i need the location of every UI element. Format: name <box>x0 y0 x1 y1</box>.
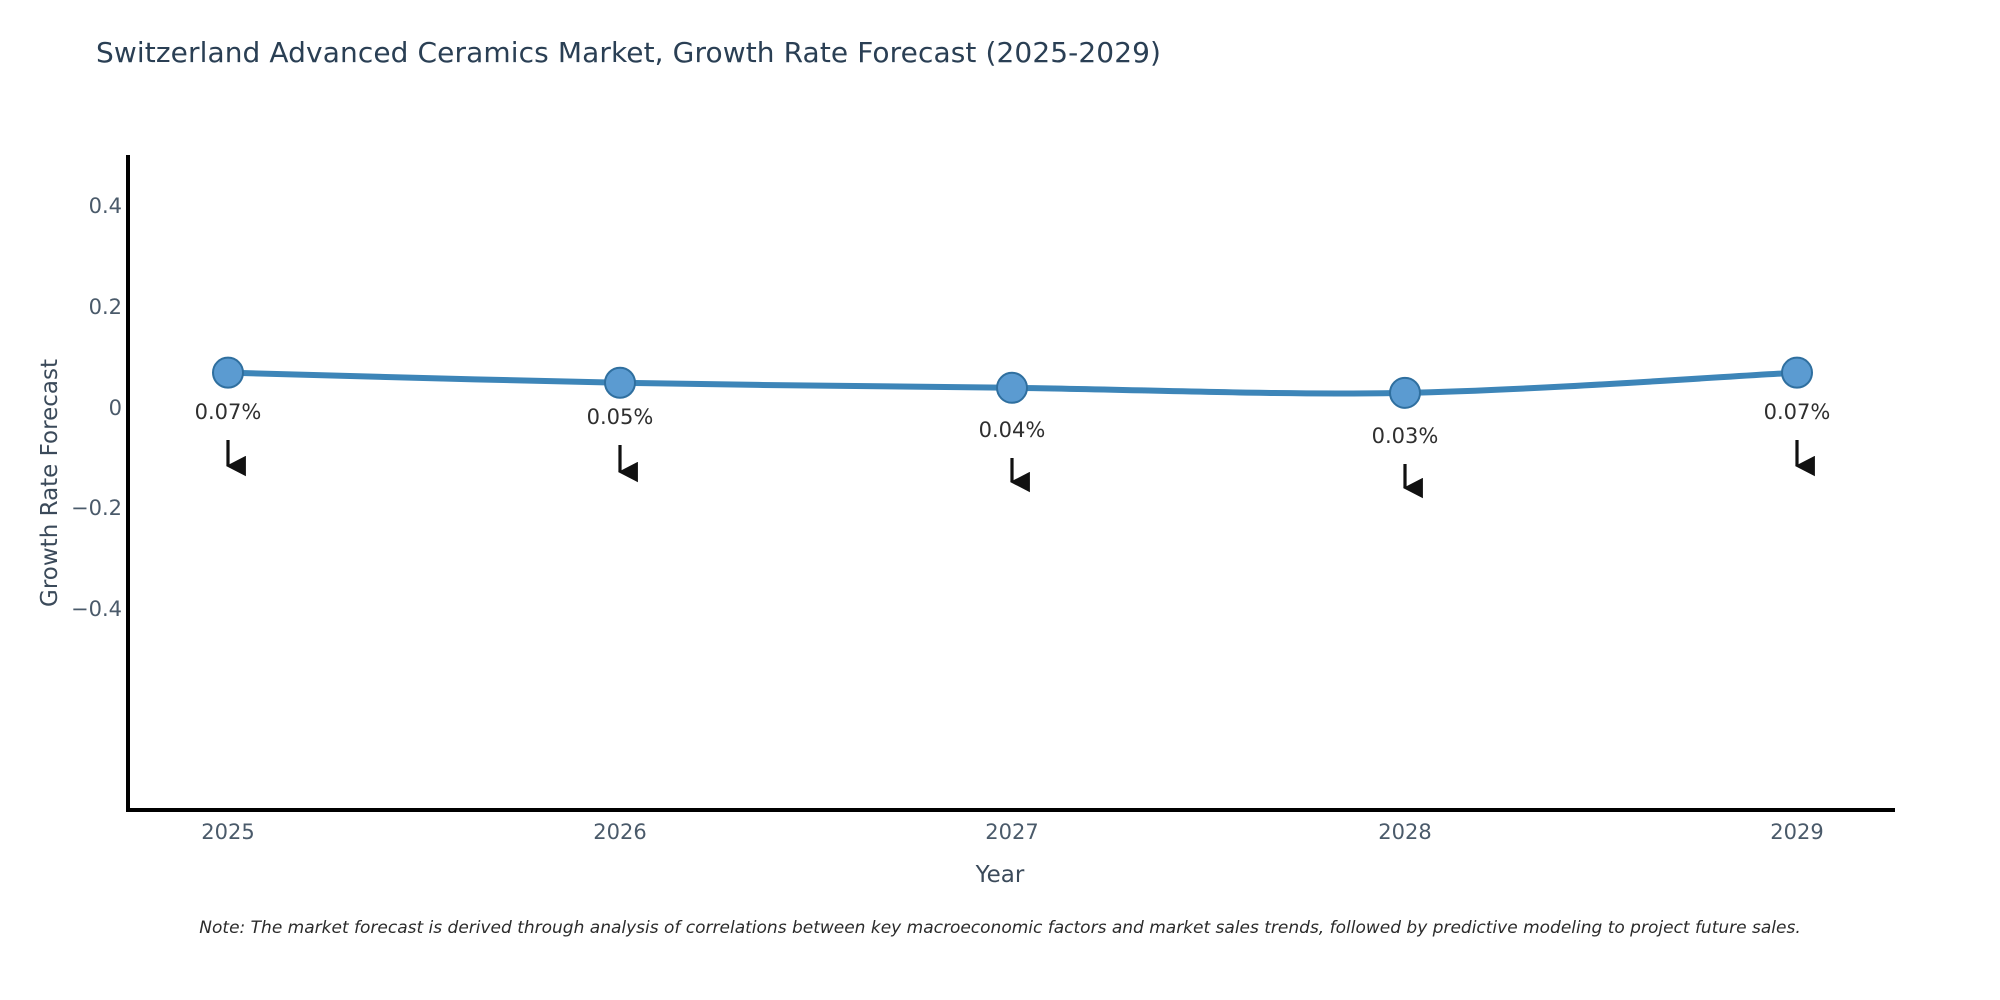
chart-figure: Switzerland Advanced Ceramics Market, Gr… <box>0 0 2000 1000</box>
data-point-2029[interactable] <box>1782 358 1812 388</box>
series-markers <box>213 358 1812 408</box>
data-point-2027[interactable] <box>997 373 1027 403</box>
data-point-2025[interactable] <box>213 358 243 388</box>
data-point-2028[interactable] <box>1390 378 1420 408</box>
data-point-2026[interactable] <box>605 368 635 398</box>
annotation-arrows <box>228 440 1797 488</box>
plot-area <box>0 0 2000 1000</box>
